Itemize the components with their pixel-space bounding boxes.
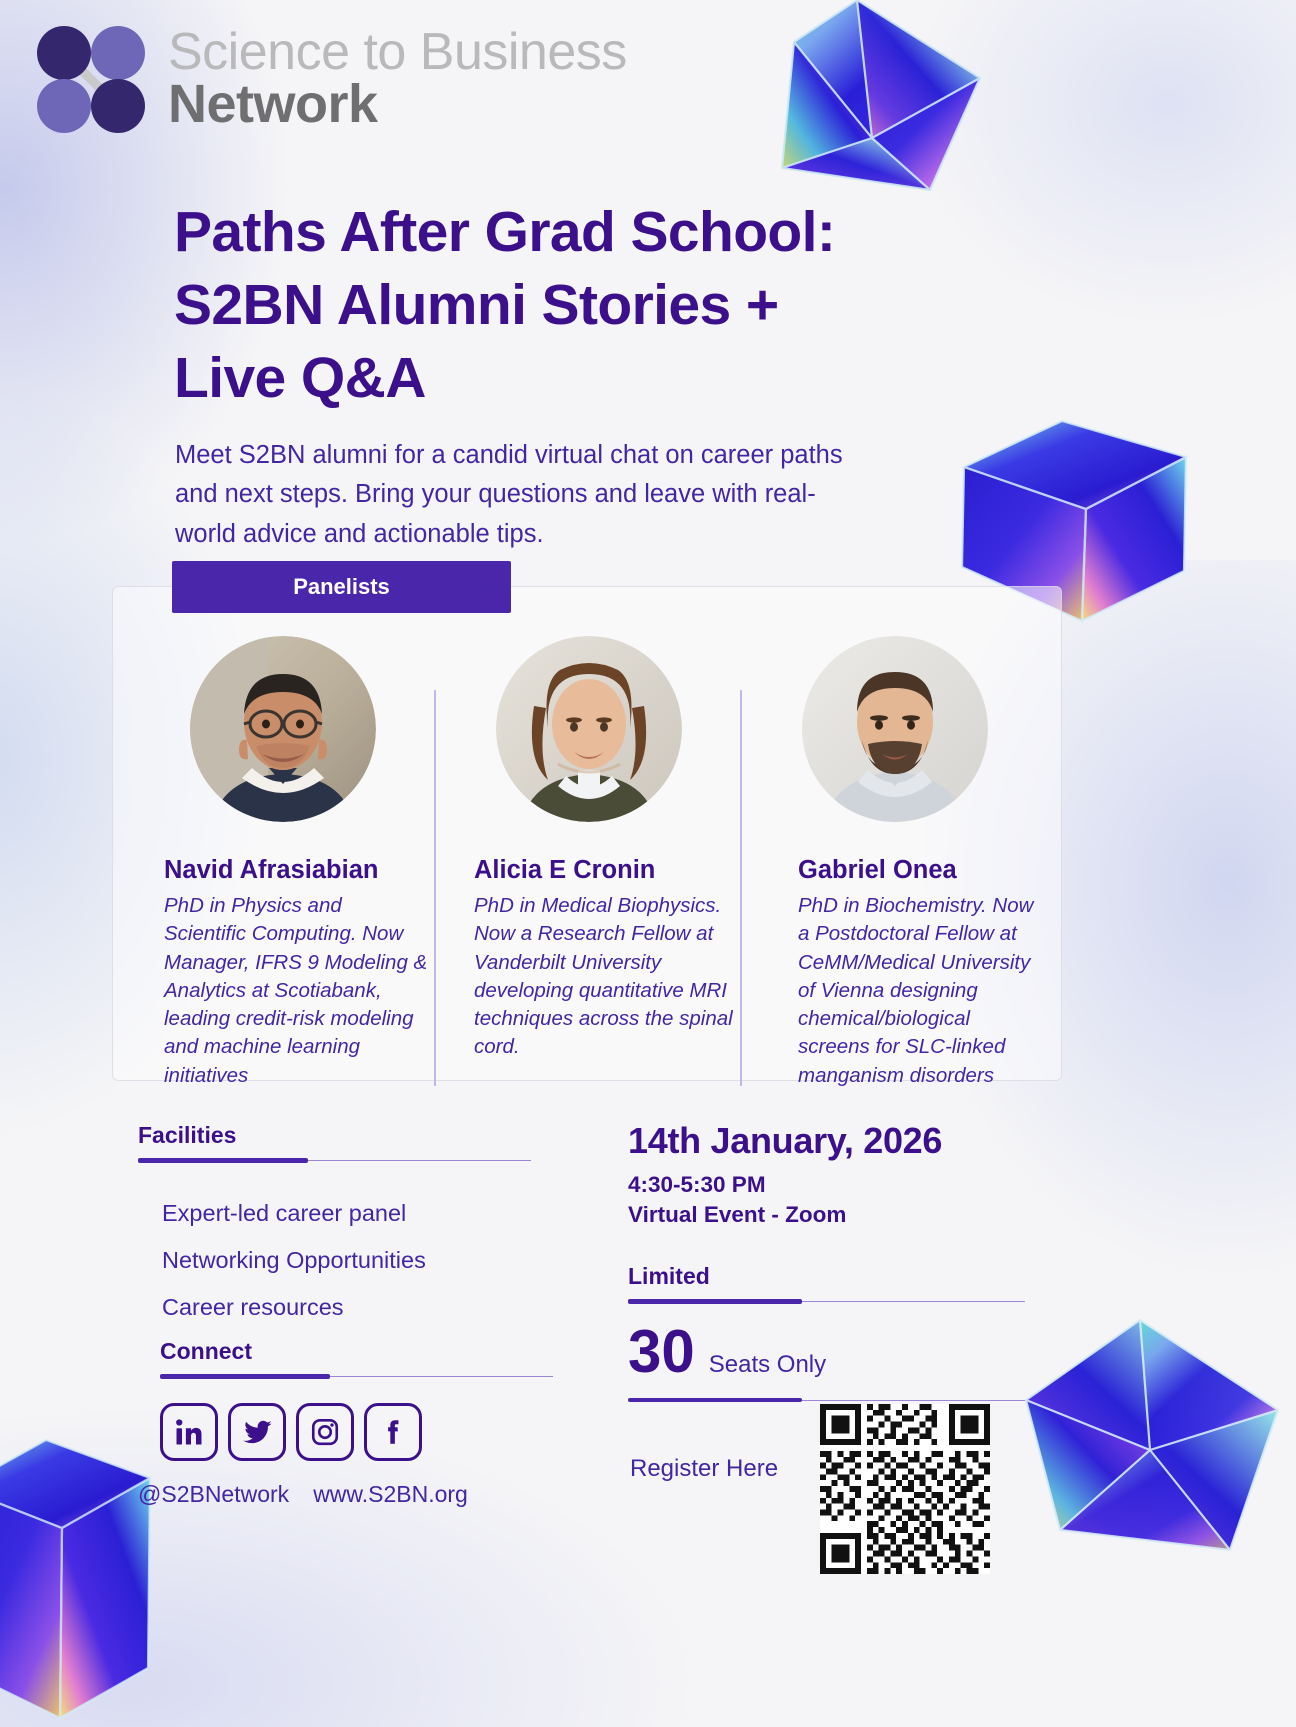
brand-logo: Science to Business Network xyxy=(30,20,627,138)
panelist-name: Alicia E Cronin xyxy=(444,856,734,885)
connect-section: Connect xyxy=(160,1338,560,1508)
facebook-icon[interactable] xyxy=(364,1403,422,1461)
panelists-list: Navid Afrasiabian PhD in Physics and Sci… xyxy=(130,636,1050,1090)
list-item: Expert-led career panel xyxy=(138,1200,538,1227)
page-title: Paths After Grad School: S2BN Alumni Sto… xyxy=(174,196,874,415)
facilities-heading: Facilities xyxy=(138,1122,538,1149)
panelist-name: Gabriel Onea xyxy=(750,856,1040,885)
logo-text-line1: Science to Business xyxy=(168,27,627,78)
facilities-list: Expert-led career panel Networking Oppor… xyxy=(138,1200,538,1321)
panelists-badge: Panelists xyxy=(172,561,511,613)
network-nodes-logo-icon xyxy=(30,20,150,138)
background-gradient-top-right xyxy=(916,0,1296,320)
panelist-bio: PhD in Biochemistry. Now a Postdoctoral … xyxy=(750,892,1040,1090)
website-url: www.S2BN.org xyxy=(313,1481,468,1508)
limited-rule xyxy=(628,1299,1025,1304)
panelist-item: Gabriel Onea PhD in Biochemistry. Now a … xyxy=(742,636,1048,1090)
limited-rule-bottom xyxy=(628,1398,1025,1403)
headshot-alicia-icon xyxy=(496,636,682,822)
panelist-item: Navid Afrasiabian PhD in Physics and Sci… xyxy=(130,636,436,1090)
seats-label: Seats Only xyxy=(709,1351,826,1379)
connect-heading: Connect xyxy=(160,1338,560,1365)
linkedin-icon[interactable] xyxy=(160,1403,218,1461)
instagram-icon[interactable] xyxy=(296,1403,354,1461)
list-item: Networking Opportunities xyxy=(138,1247,538,1274)
register-label: Register Here xyxy=(630,1455,778,1483)
avatar xyxy=(190,636,376,822)
social-handle: @S2BNetwork xyxy=(138,1481,289,1508)
iridescent-octahedron-bottom-right xyxy=(1000,1300,1296,1590)
limited-heading: Limited xyxy=(628,1263,1028,1290)
avatar xyxy=(802,636,988,822)
event-date: 14th January, 2026 xyxy=(628,1120,1048,1162)
social-links xyxy=(160,1403,560,1461)
connect-rule xyxy=(160,1374,553,1379)
twitter-icon[interactable] xyxy=(228,1403,286,1461)
page-subtitle: Meet S2BN alumni for a candid virtual ch… xyxy=(175,436,875,554)
panelist-name: Navid Afrasiabian xyxy=(138,856,428,885)
logo-text-line2: Network xyxy=(168,78,627,131)
seats-row: 30 Seats Only xyxy=(628,1322,1028,1382)
event-time: 4:30-5:30 PM xyxy=(628,1170,1048,1200)
panelist-bio: PhD in Physics and Scientific Computing.… xyxy=(138,892,428,1090)
list-item: Career resources xyxy=(138,1294,538,1321)
event-place: Virtual Event - Zoom xyxy=(628,1200,1048,1230)
headshot-navid-icon xyxy=(190,636,376,822)
facilities-rule xyxy=(138,1158,531,1163)
facilities-section: Facilities Expert-led career panel Netwo… xyxy=(138,1122,538,1341)
event-details: 14th January, 2026 4:30-5:30 PM Virtual … xyxy=(628,1120,1048,1231)
panelist-item: Alicia E Cronin PhD in Medical Biophysic… xyxy=(436,636,742,1090)
panelist-bio: PhD in Medical Biophysics. Now a Researc… xyxy=(444,892,734,1062)
avatar xyxy=(496,636,682,822)
connect-handles: @S2BNetwork www.S2BN.org xyxy=(138,1481,560,1508)
event-poster: Science to Business Network Paths After … xyxy=(0,0,1296,1727)
qr-code-icon[interactable] xyxy=(820,1404,990,1574)
limited-seats-section: Limited 30 Seats Only xyxy=(628,1263,1028,1382)
seats-count: 30 xyxy=(628,1322,695,1382)
headshot-gabriel-icon xyxy=(802,636,988,822)
